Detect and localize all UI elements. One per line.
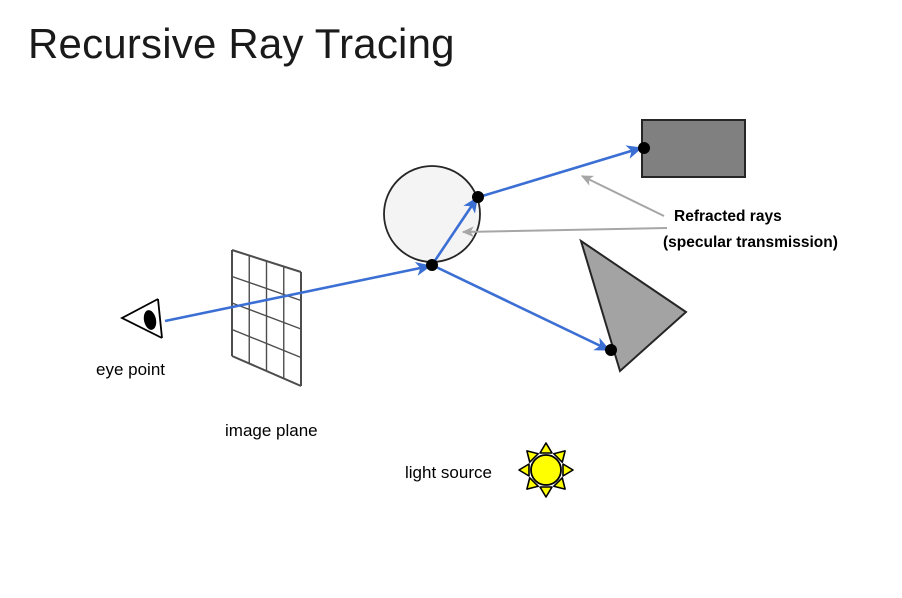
eye-front-edge bbox=[158, 299, 162, 338]
sun-icon bbox=[519, 443, 573, 497]
rectangle-hit-point bbox=[638, 142, 650, 154]
triangle-hit-point bbox=[605, 344, 617, 356]
eye-point-label: eye point bbox=[96, 360, 165, 379]
annotation-arrow-lower bbox=[463, 228, 667, 232]
annotation-arrows bbox=[463, 176, 667, 232]
secondary-refracted-ray bbox=[434, 266, 609, 350]
image-plane-label: image plane bbox=[225, 421, 318, 440]
primary-ray bbox=[165, 266, 430, 321]
diagram-labels: eye point image plane light source Refra… bbox=[96, 208, 838, 482]
triangle-object bbox=[581, 241, 686, 371]
sphere-exit-point bbox=[472, 191, 484, 203]
sun-disc bbox=[531, 455, 561, 485]
eye-pupil bbox=[142, 309, 158, 331]
sphere-entry-point bbox=[426, 259, 438, 271]
sun-ray bbox=[519, 464, 529, 476]
light-source-label: light source bbox=[405, 463, 492, 482]
refracted-rays-label-line1: Refracted rays bbox=[674, 208, 782, 225]
ray-tracing-diagram: eye point image plane light source Refra… bbox=[0, 0, 902, 598]
sun-ray bbox=[563, 464, 573, 476]
image-plane-grid bbox=[232, 250, 301, 386]
sun-ray bbox=[540, 443, 552, 453]
exit-refracted-ray bbox=[479, 148, 641, 197]
refracted-rays-label-line2: (specular transmission) bbox=[663, 234, 838, 251]
slide-canvas: Recursive Ray Tracing bbox=[0, 0, 902, 598]
annotation-arrow-upper bbox=[582, 176, 664, 216]
rectangle-object bbox=[642, 120, 745, 177]
eye-outline bbox=[122, 299, 162, 338]
eye-icon bbox=[122, 299, 162, 338]
sun-ray bbox=[540, 487, 552, 497]
